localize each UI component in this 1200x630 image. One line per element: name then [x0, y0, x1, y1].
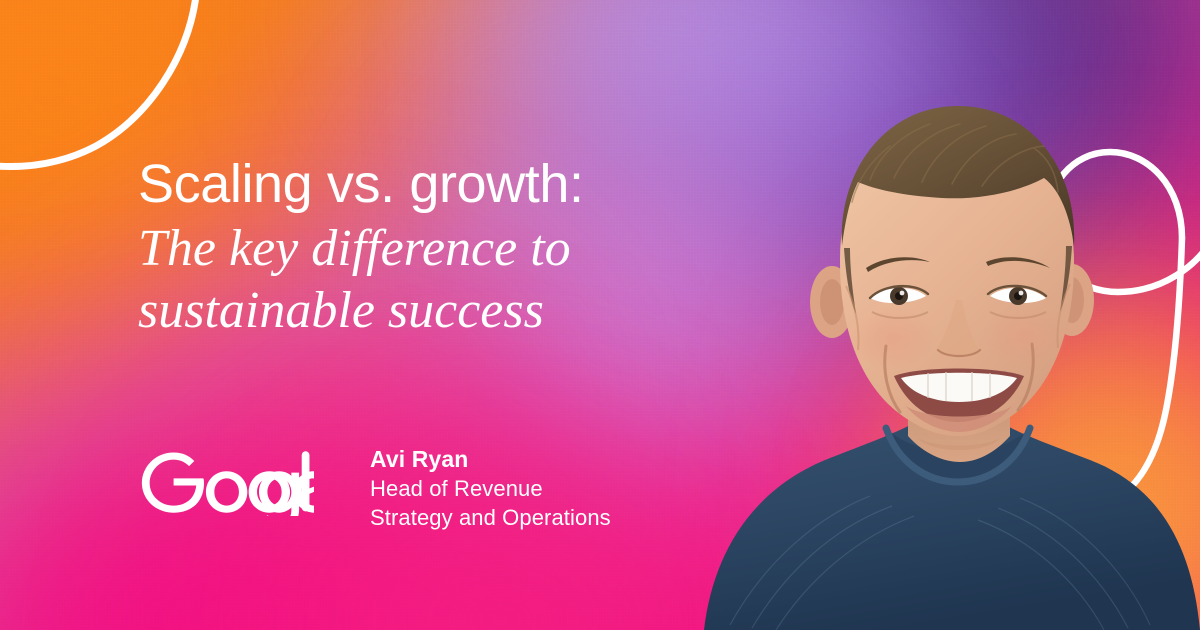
speaker-info: Avi Ryan Head of Revenue Strategy and Op… [370, 440, 611, 532]
speaker-role-line-2: Strategy and Operations [370, 503, 611, 532]
headline-line-2: The key difference to [138, 218, 778, 280]
google-wordmark-icon [138, 446, 314, 516]
promo-card: Scaling vs. growth: The key difference t… [0, 0, 1200, 630]
google-logo [138, 446, 314, 516]
headline-line-3: sustainable success [138, 280, 778, 342]
speaker-name: Avi Ryan [370, 444, 611, 474]
speaker-role-line-1: Head of Revenue [370, 474, 611, 503]
byline-block: Avi Ryan Head of Revenue Strategy and Op… [138, 440, 611, 532]
headline-line-1: Scaling vs. growth: [138, 152, 778, 216]
headline-block: Scaling vs. growth: The key difference t… [138, 152, 778, 342]
